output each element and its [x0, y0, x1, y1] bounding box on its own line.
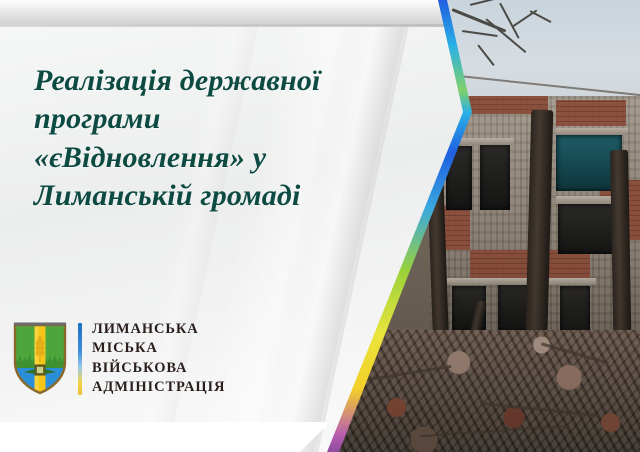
- poster-canvas: Реалізація державної програми «єВідновле…: [0, 0, 640, 452]
- bottom-white-strip: [0, 422, 330, 452]
- organization-name-line-2: МІСЬКА: [92, 339, 225, 358]
- headline-line-2: програми: [34, 100, 434, 138]
- lyman-coat-of-arms-icon: [12, 322, 68, 396]
- organization-name-line-3: ВІЙСЬКОВА: [92, 359, 225, 378]
- organization-name-line-1: ЛИМАНСЬКА: [92, 320, 225, 339]
- headline-line-3: «єВідновлення» у: [34, 139, 434, 177]
- organization-logo: ЛИМАНСЬКА МІСЬКА ВІЙСЬКОВА АДМІНІСТРАЦІЯ: [12, 320, 225, 397]
- headline-line-1: Реалізація державної: [34, 62, 434, 100]
- logo-divider: [78, 323, 82, 395]
- page-title: Реалізація державної програми «єВідновле…: [34, 62, 434, 216]
- organization-name-line-4: АДМІНІСТРАЦІЯ: [92, 378, 225, 397]
- organization-name: ЛИМАНСЬКА МІСЬКА ВІЙСЬКОВА АДМІНІСТРАЦІЯ: [92, 320, 225, 397]
- headline-line-4: Лиманській громаді: [34, 177, 434, 215]
